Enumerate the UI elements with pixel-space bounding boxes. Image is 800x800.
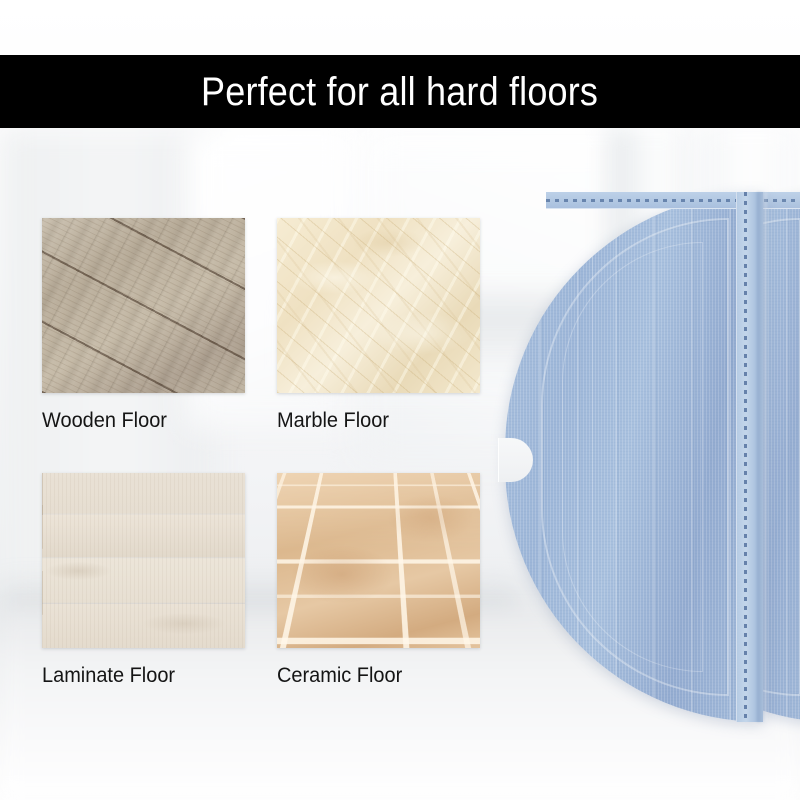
banner-title: Perfect for all hard floors <box>201 72 598 112</box>
floor-label-wooden: Wooden Floor <box>42 409 235 433</box>
product-infographic: Perfect for all hard floors Wooden Floor… <box>0 0 800 800</box>
floor-card-wooden: Wooden Floor <box>42 218 245 433</box>
floor-label-marble: Marble Floor <box>277 409 470 433</box>
floor-label-laminate: Laminate Floor <box>42 664 235 688</box>
floor-card-laminate: Laminate Floor <box>42 473 245 688</box>
wood-plank-texture-icon <box>42 218 245 393</box>
header-banner: Perfect for all hard floors <box>0 55 800 128</box>
mop-pad-front <box>505 192 763 722</box>
mop-pad-separation-seam <box>757 192 767 722</box>
floor-type-grid: Wooden Floor Marble Floor Laminate Floor… <box>42 218 492 698</box>
floor-card-marble: Marble Floor <box>277 218 480 433</box>
floor-card-ceramic: Ceramic Floor <box>277 473 480 688</box>
floor-label-ceramic: Ceramic Floor <box>277 664 470 688</box>
laminate-texture-icon <box>42 473 245 648</box>
marble-texture-icon <box>277 218 480 393</box>
product-image-mop-pads <box>505 192 800 722</box>
mop-pad-front-top-hem <box>546 192 763 209</box>
ceramic-tile-texture-icon <box>277 473 480 648</box>
